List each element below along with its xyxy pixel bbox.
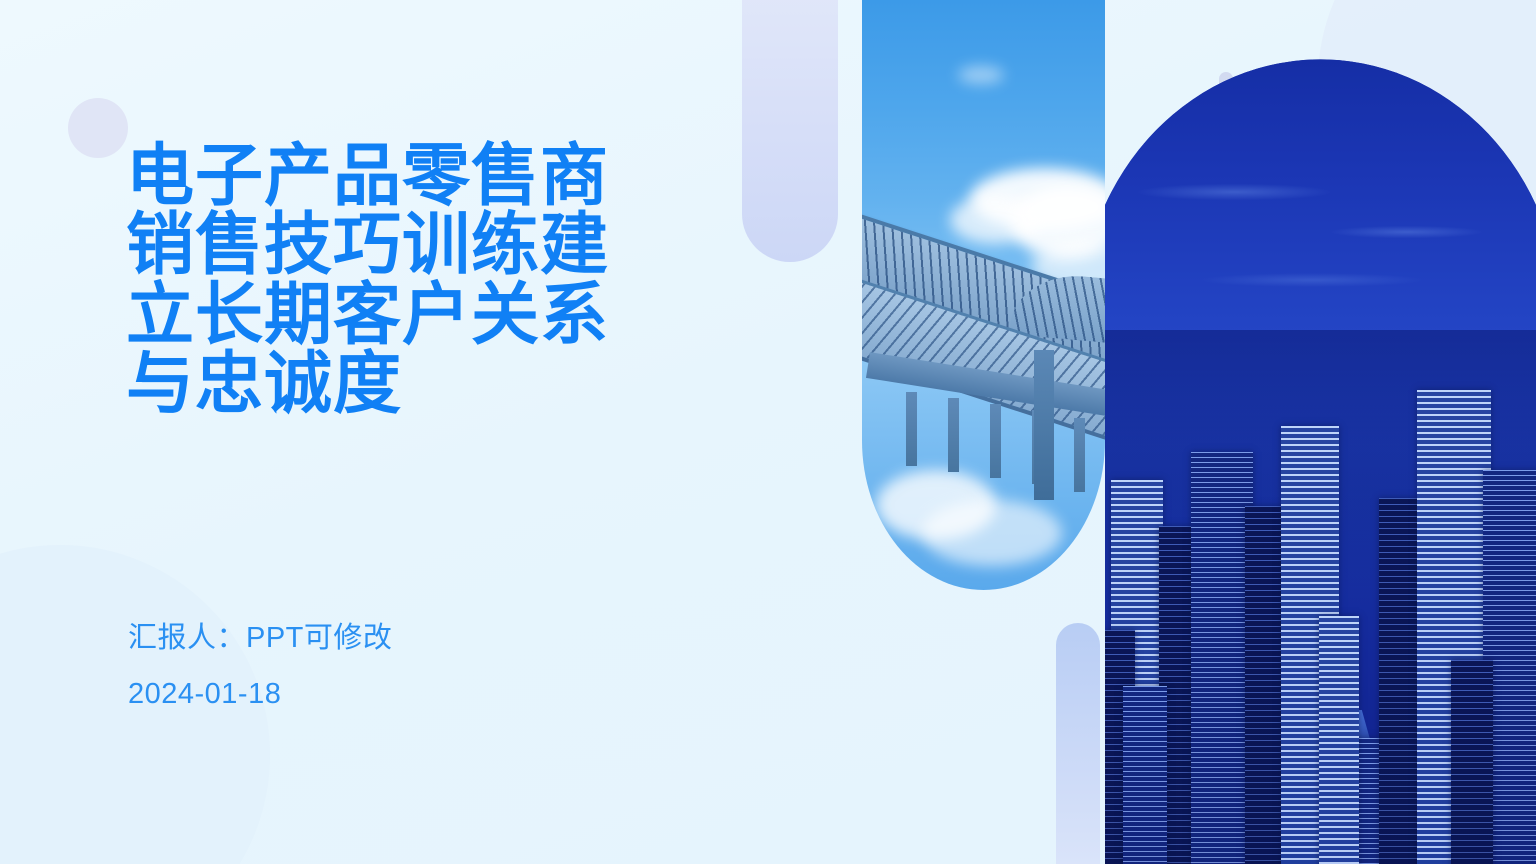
decorative-circle-small [68,98,128,158]
bridge-pier [906,392,917,466]
city-photo [1105,0,1536,864]
decorative-capsule-center-top [742,0,838,262]
presenter-label: 汇报人：PPT可修改 [128,614,392,656]
building [1319,616,1359,864]
page-title: 电子产品零售商 销售技巧训练建 立长期客户关系 与忠诚度 [126,142,726,419]
bridge-pier [990,404,1001,478]
building [1451,660,1493,864]
bridge-pier-main [1034,350,1054,500]
city-photo-clip [1105,0,1536,864]
building [1191,452,1253,864]
title-block: 电子产品零售商 销售技巧训练建 立长期客户关系 与忠诚度 [126,142,726,419]
bridge-pier [1074,418,1085,492]
cityscape [1105,330,1536,864]
bridge-structure [862,0,1105,590]
bridge-photo [862,0,1105,590]
bridge-pier [948,398,959,472]
decorative-capsule-bottom [1056,623,1100,864]
date-label: 2024-01-18 [128,678,392,711]
presentation-slide: 电子产品零售商 销售技巧训练建 立长期客户关系 与忠诚度 汇报人：PPT可修改 … [0,0,1536,864]
slide-meta: 汇报人：PPT可修改 2024-01-18 [128,614,392,711]
building [1123,686,1167,864]
